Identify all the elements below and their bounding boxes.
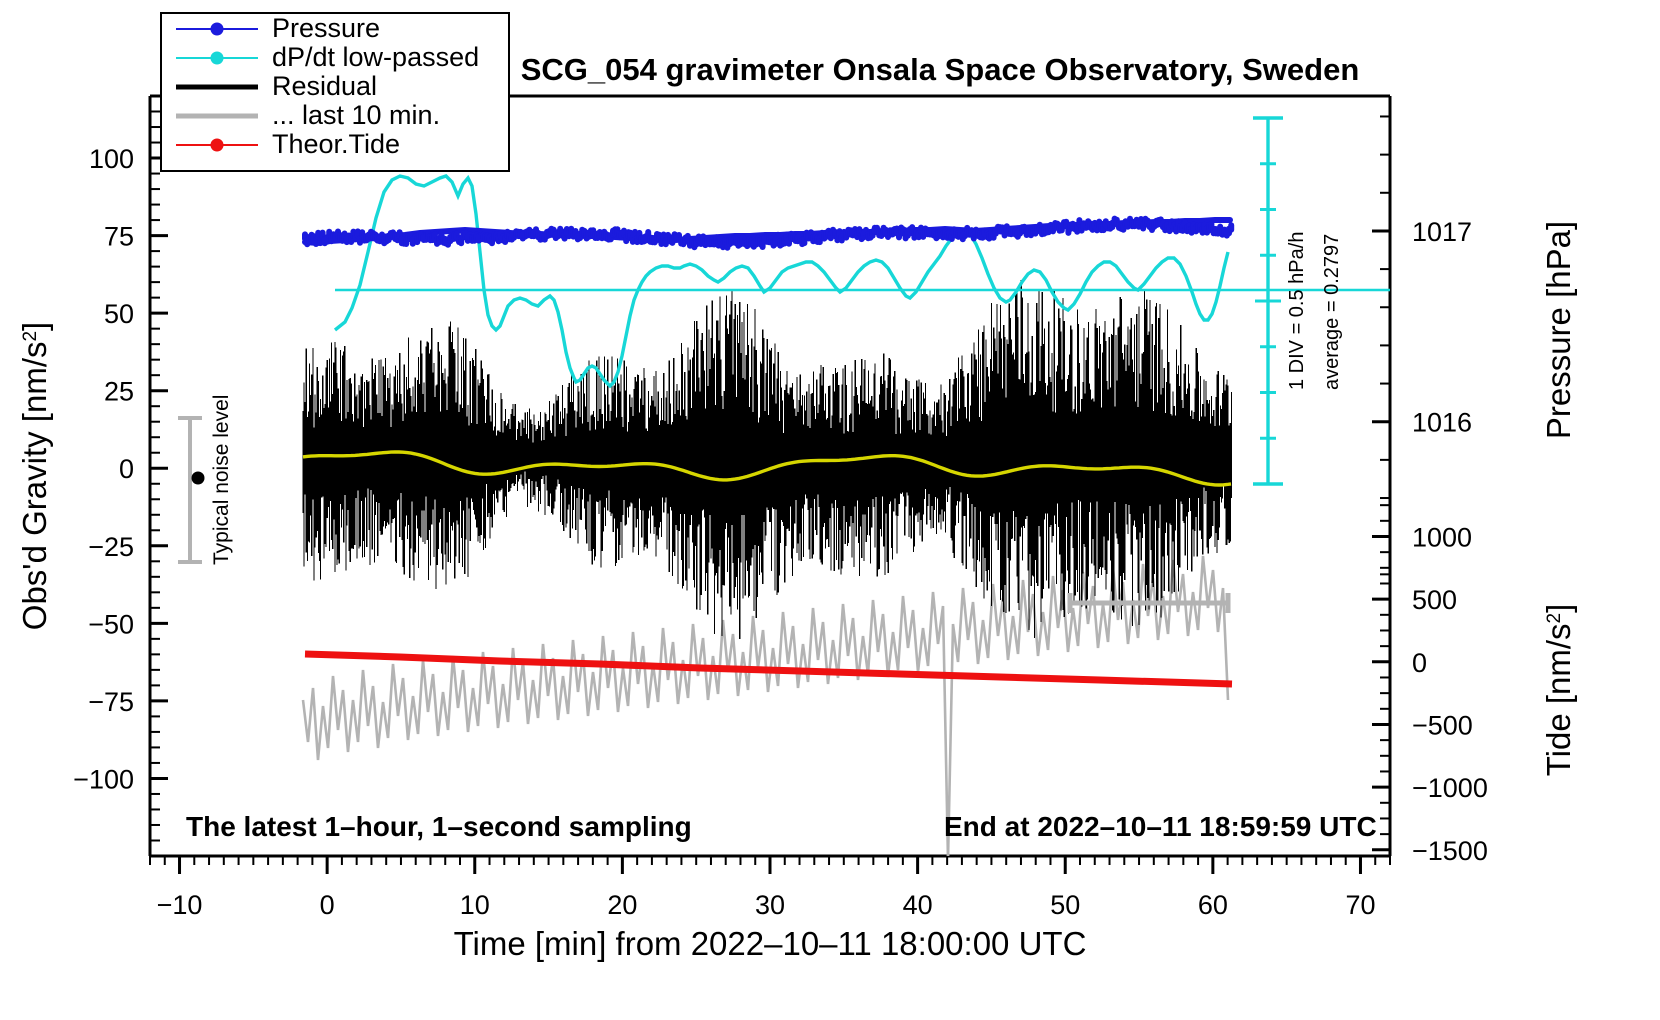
typical-noise-label: Typical noise level [210,395,233,565]
legend-marker-dot [211,22,224,35]
legend-item-0[interactable]: Pressure [176,14,508,43]
legend-marker-dot [211,138,224,151]
typical-noise-dot [192,472,205,485]
bottom-axis-title: Time [min] from 2022–10–11 18:00:00 UTC [454,925,1087,962]
legend: PressuredP/dt low-passedResidual... last… [160,12,510,172]
legend-label: dP/dt low-passed [272,44,479,71]
tide-tick-label: −500 [1412,710,1473,740]
legend-marker-dot [211,51,224,64]
left-tick-label: 50 [104,299,134,329]
legend-item-3[interactable]: ... last 10 min. [176,101,508,130]
legend-label: Residual [272,73,377,100]
left-tick-label: 25 [104,377,134,407]
bottom-tick-label: 30 [755,890,785,920]
legend-swatch-icon [176,18,258,40]
left-tick-label: −25 [88,532,134,562]
bottom-tick-label: 70 [1345,890,1375,920]
tide-tick-label: −1000 [1412,773,1488,803]
right-tide-axis-title: Tide [nm/s2] [1540,604,1577,777]
left-tick-label: 0 [119,454,134,484]
tide-tick-label: 500 [1412,585,1457,615]
page-title: SCG_054 gravimeter Onsala Space Observat… [521,52,1360,87]
right-pressure-axis-title: Pressure [hPa] [1540,221,1577,439]
bottom-tick-label: 60 [1198,890,1228,920]
left-tick-label: −50 [88,609,134,639]
legend-label: ... last 10 min. [272,102,440,129]
bottom-tick-label: 20 [607,890,637,920]
legend-swatch-icon [176,47,258,69]
legend-swatch-icon [176,76,258,98]
bottom-tick-label: 10 [460,890,490,920]
scale-average-label: average = 0.2797 [1321,234,1343,390]
left-axis-title: Obs'd Gravity [nm/s2] [16,322,53,630]
legend-label: Theor.Tide [272,131,400,158]
bottom-tick-label: 0 [320,890,335,920]
tide-tick-label: −1500 [1412,836,1488,866]
tide-tick-label: 0 [1412,648,1427,678]
left-tick-label: 100 [89,144,134,174]
pressure-tick-label: 1017 [1412,217,1472,247]
bottom-left-note: The latest 1–hour, 1–second sampling [186,811,692,842]
tide-tick-label: 1000 [1412,522,1472,552]
left-tick-label: 75 [104,222,134,252]
left-tick-label: −100 [73,764,134,794]
pressure-tick-label: 1016 [1412,408,1472,438]
scale-div-label: 1 DIV = 0.5 hPa/h [1286,232,1308,390]
chart-canvas: 1007550250−25−50−75−100 −100102030405060… [0,0,1660,1020]
legend-item-4[interactable]: Theor.Tide [176,130,508,159]
legend-item-1[interactable]: dP/dt low-passed [176,43,508,72]
legend-label: Pressure [272,15,380,42]
legend-swatch-icon [176,134,258,156]
bottom-tick-label: 50 [1050,890,1080,920]
bottom-tick-label: −10 [157,890,203,920]
bottom-tick-label: 40 [903,890,933,920]
legend-swatch-icon [176,105,258,127]
bottom-right-note: End at 2022–10–11 18:59:59 UTC [944,811,1377,842]
left-tick-label: −75 [88,687,134,717]
legend-item-2[interactable]: Residual [176,72,508,101]
